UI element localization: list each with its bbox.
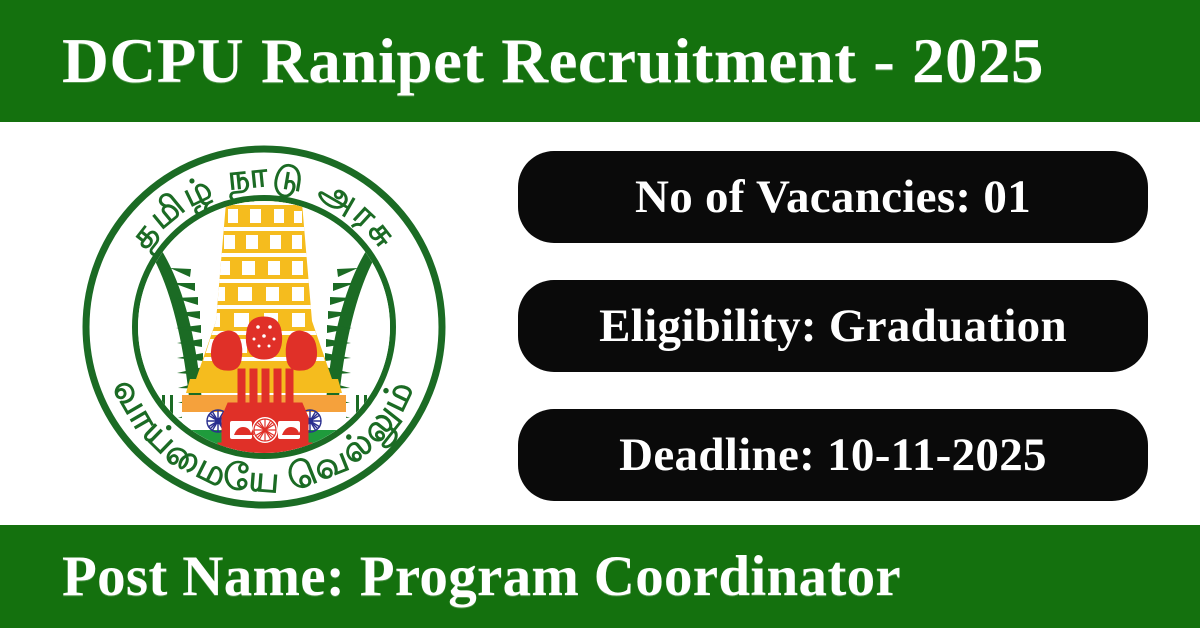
info-pill-list: No of Vacancies: 01 Eligibility: Graduat… [518, 151, 1148, 501]
post-name-text: Post Name: Program Coordinator [62, 548, 901, 605]
poster-body: தமிழ் நாடு அரசு வாய்மையே வெல்லும் [0, 122, 1200, 525]
recruitment-poster: DCPU Ranipet Recruitment - 2025 [0, 0, 1200, 628]
poster-footer-banner: Post Name: Program Coordinator [0, 525, 1200, 628]
pill-vacancies: No of Vacancies: 01 [518, 151, 1148, 243]
pill-vacancies-label: No of Vacancies: 01 [635, 174, 1031, 221]
poster-header-banner: DCPU Ranipet Recruitment - 2025 [0, 0, 1200, 122]
page-title: DCPU Ranipet Recruitment - 2025 [62, 30, 1044, 93]
pill-eligibility-label: Eligibility: Graduation [599, 303, 1067, 350]
pill-deadline-label: Deadline: 10-11-2025 [619, 432, 1047, 479]
pill-deadline: Deadline: 10-11-2025 [518, 409, 1148, 501]
pill-eligibility: Eligibility: Graduation [518, 280, 1148, 372]
tamil-nadu-emblem-icon: தமிழ் நாடு அரசு வாய்மையே வெல்லும் [78, 131, 450, 516]
